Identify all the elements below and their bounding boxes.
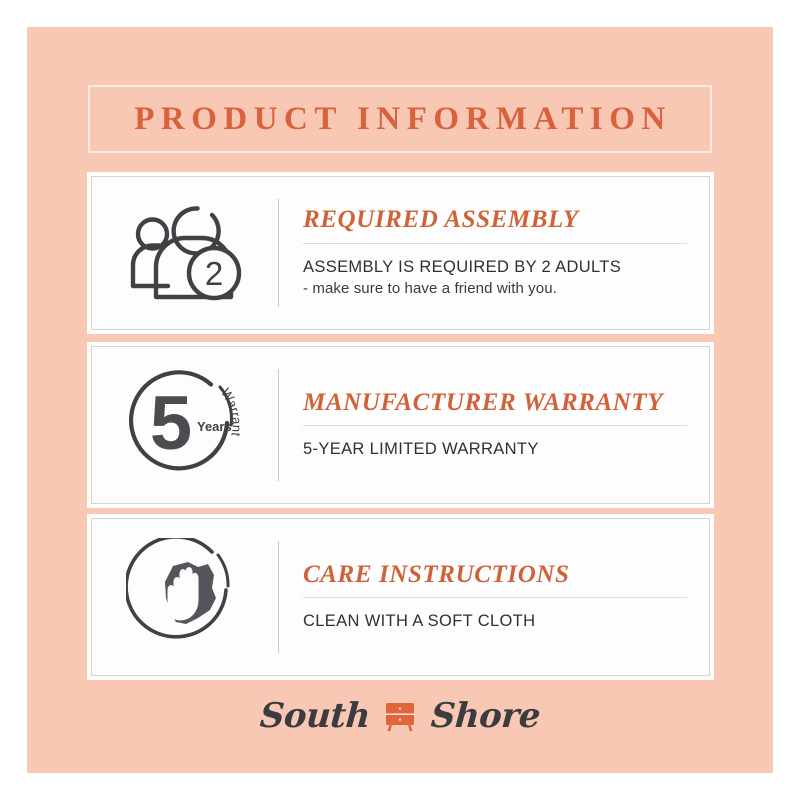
card-body-primary: 5-YEAR LIMITED WARRANTY: [303, 439, 687, 460]
info-card-manufacturer-warranty: 5 Years Warranty MANUFACTURER WARRANTY 5…: [91, 346, 710, 504]
nightstand-icon: [380, 696, 420, 736]
icon-column: 2: [92, 177, 278, 329]
card-body-primary: CLEAN WITH A SOFT CLOTH: [303, 611, 687, 632]
warranty-years-number: 5: [150, 381, 192, 466]
card-body-primary: ASSEMBLY IS REQUIRED BY 2 ADULTS: [303, 257, 687, 278]
card-heading: MANUFACTURER WARRANTY: [303, 390, 687, 416]
brand-logo: South Shore: [0, 696, 800, 736]
info-card-care-instructions: CARE INSTRUCTIONS CLEAN WITH A SOFT CLOT…: [91, 518, 710, 676]
icon-column: [92, 519, 278, 675]
info-card-required-assembly: 2 REQUIRED ASSEMBLY ASSEMBLY IS REQUIRED…: [91, 176, 710, 330]
card-heading: REQUIRED ASSEMBLY: [303, 207, 687, 233]
logo-word-shore: Shore: [430, 696, 542, 736]
text-column: REQUIRED ASSEMBLY ASSEMBLY IS REQUIRED B…: [279, 177, 709, 329]
product-information-graphic: PRODUCT INFORMATION: [0, 0, 800, 800]
five-year-warranty-icon: 5 Years Warranty: [123, 365, 247, 485]
card-body-secondary: - make sure to have a friend with you.: [303, 279, 687, 299]
icon-column: 5 Years Warranty: [92, 347, 278, 503]
two-people-icon: 2: [126, 201, 244, 305]
hand-cloth-icon: [126, 538, 244, 656]
page-title: PRODUCT INFORMATION: [128, 101, 672, 138]
heading-rule: [303, 425, 687, 426]
page-title-box: PRODUCT INFORMATION: [88, 85, 712, 153]
warranty-years-unit: Years: [197, 419, 232, 434]
heading-rule: [303, 597, 687, 598]
text-column: CARE INSTRUCTIONS CLEAN WITH A SOFT CLOT…: [279, 519, 709, 675]
text-column: MANUFACTURER WARRANTY 5-YEAR LIMITED WAR…: [279, 347, 709, 503]
heading-rule: [303, 243, 687, 244]
logo-word-south: South: [258, 696, 371, 736]
assembly-badge-count: 2: [205, 255, 223, 292]
card-heading: CARE INSTRUCTIONS: [303, 562, 687, 588]
